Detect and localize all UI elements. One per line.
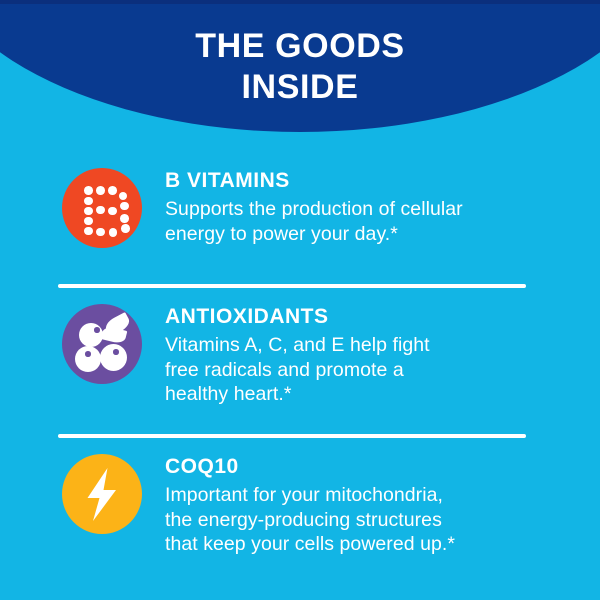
list-item: B VITAMINS Supports the production of ce… [0,150,600,286]
coq10-text: COQ10 Important for your mitochondria, t… [142,436,560,557]
description-line: energy to power your day.* [165,222,560,247]
description-line: Important for your mitochondria, [165,483,560,508]
page-title-line-2: INSIDE [242,67,359,108]
list-item-description: Vitamins A, C, and E help fight free rad… [165,333,560,407]
section-divider [58,284,526,288]
lightning-bolt-icon [62,454,142,534]
berry-shape [75,346,101,372]
list-item-description: Important for your mitochondria, the ene… [165,483,560,557]
list-item: COQ10 Important for your mitochondria, t… [0,436,600,586]
page-title: THE GOODS INSIDE [0,0,600,132]
list-item-description: Supports the production of cellular ener… [165,197,560,246]
benefit-list: B VITAMINS Supports the production of ce… [0,150,600,586]
section-divider [58,434,526,438]
list-item-title: B VITAMINS [165,169,560,193]
description-line: healthy heart.* [165,382,560,407]
list-item: ANTIOXIDANTS Vitamins A, C, and E help f… [0,286,600,436]
description-line: that keep your cells powered up.* [165,532,560,557]
berry-seed [94,327,100,333]
antioxidants-text: ANTIOXIDANTS Vitamins A, C, and E help f… [142,286,560,407]
bolt-glyph [62,454,142,534]
berry-shape [100,344,127,371]
page-title-line-1: THE GOODS [195,26,404,67]
description-line: Supports the production of cellular [165,197,560,222]
coq10-icon-wrap [62,454,142,534]
b-dots-icon [62,168,142,248]
description-line: Vitamins A, C, and E help fight [165,333,560,358]
list-item-title: ANTIOXIDANTS [165,305,560,329]
list-item-title: COQ10 [165,455,560,479]
description-line: the energy-producing structures [165,508,560,533]
infographic-page: THE GOODS INSIDE [0,0,600,600]
berry-seed [113,349,119,355]
antioxidants-icon-wrap [62,304,142,384]
berries-icon [62,304,142,384]
b-vitamins-text: B VITAMINS Supports the production of ce… [142,150,560,246]
description-line: free radicals and promote a [165,358,560,383]
berry-shape [79,323,103,347]
berry-seed [85,351,91,357]
b-vitamins-icon-wrap [62,168,142,248]
